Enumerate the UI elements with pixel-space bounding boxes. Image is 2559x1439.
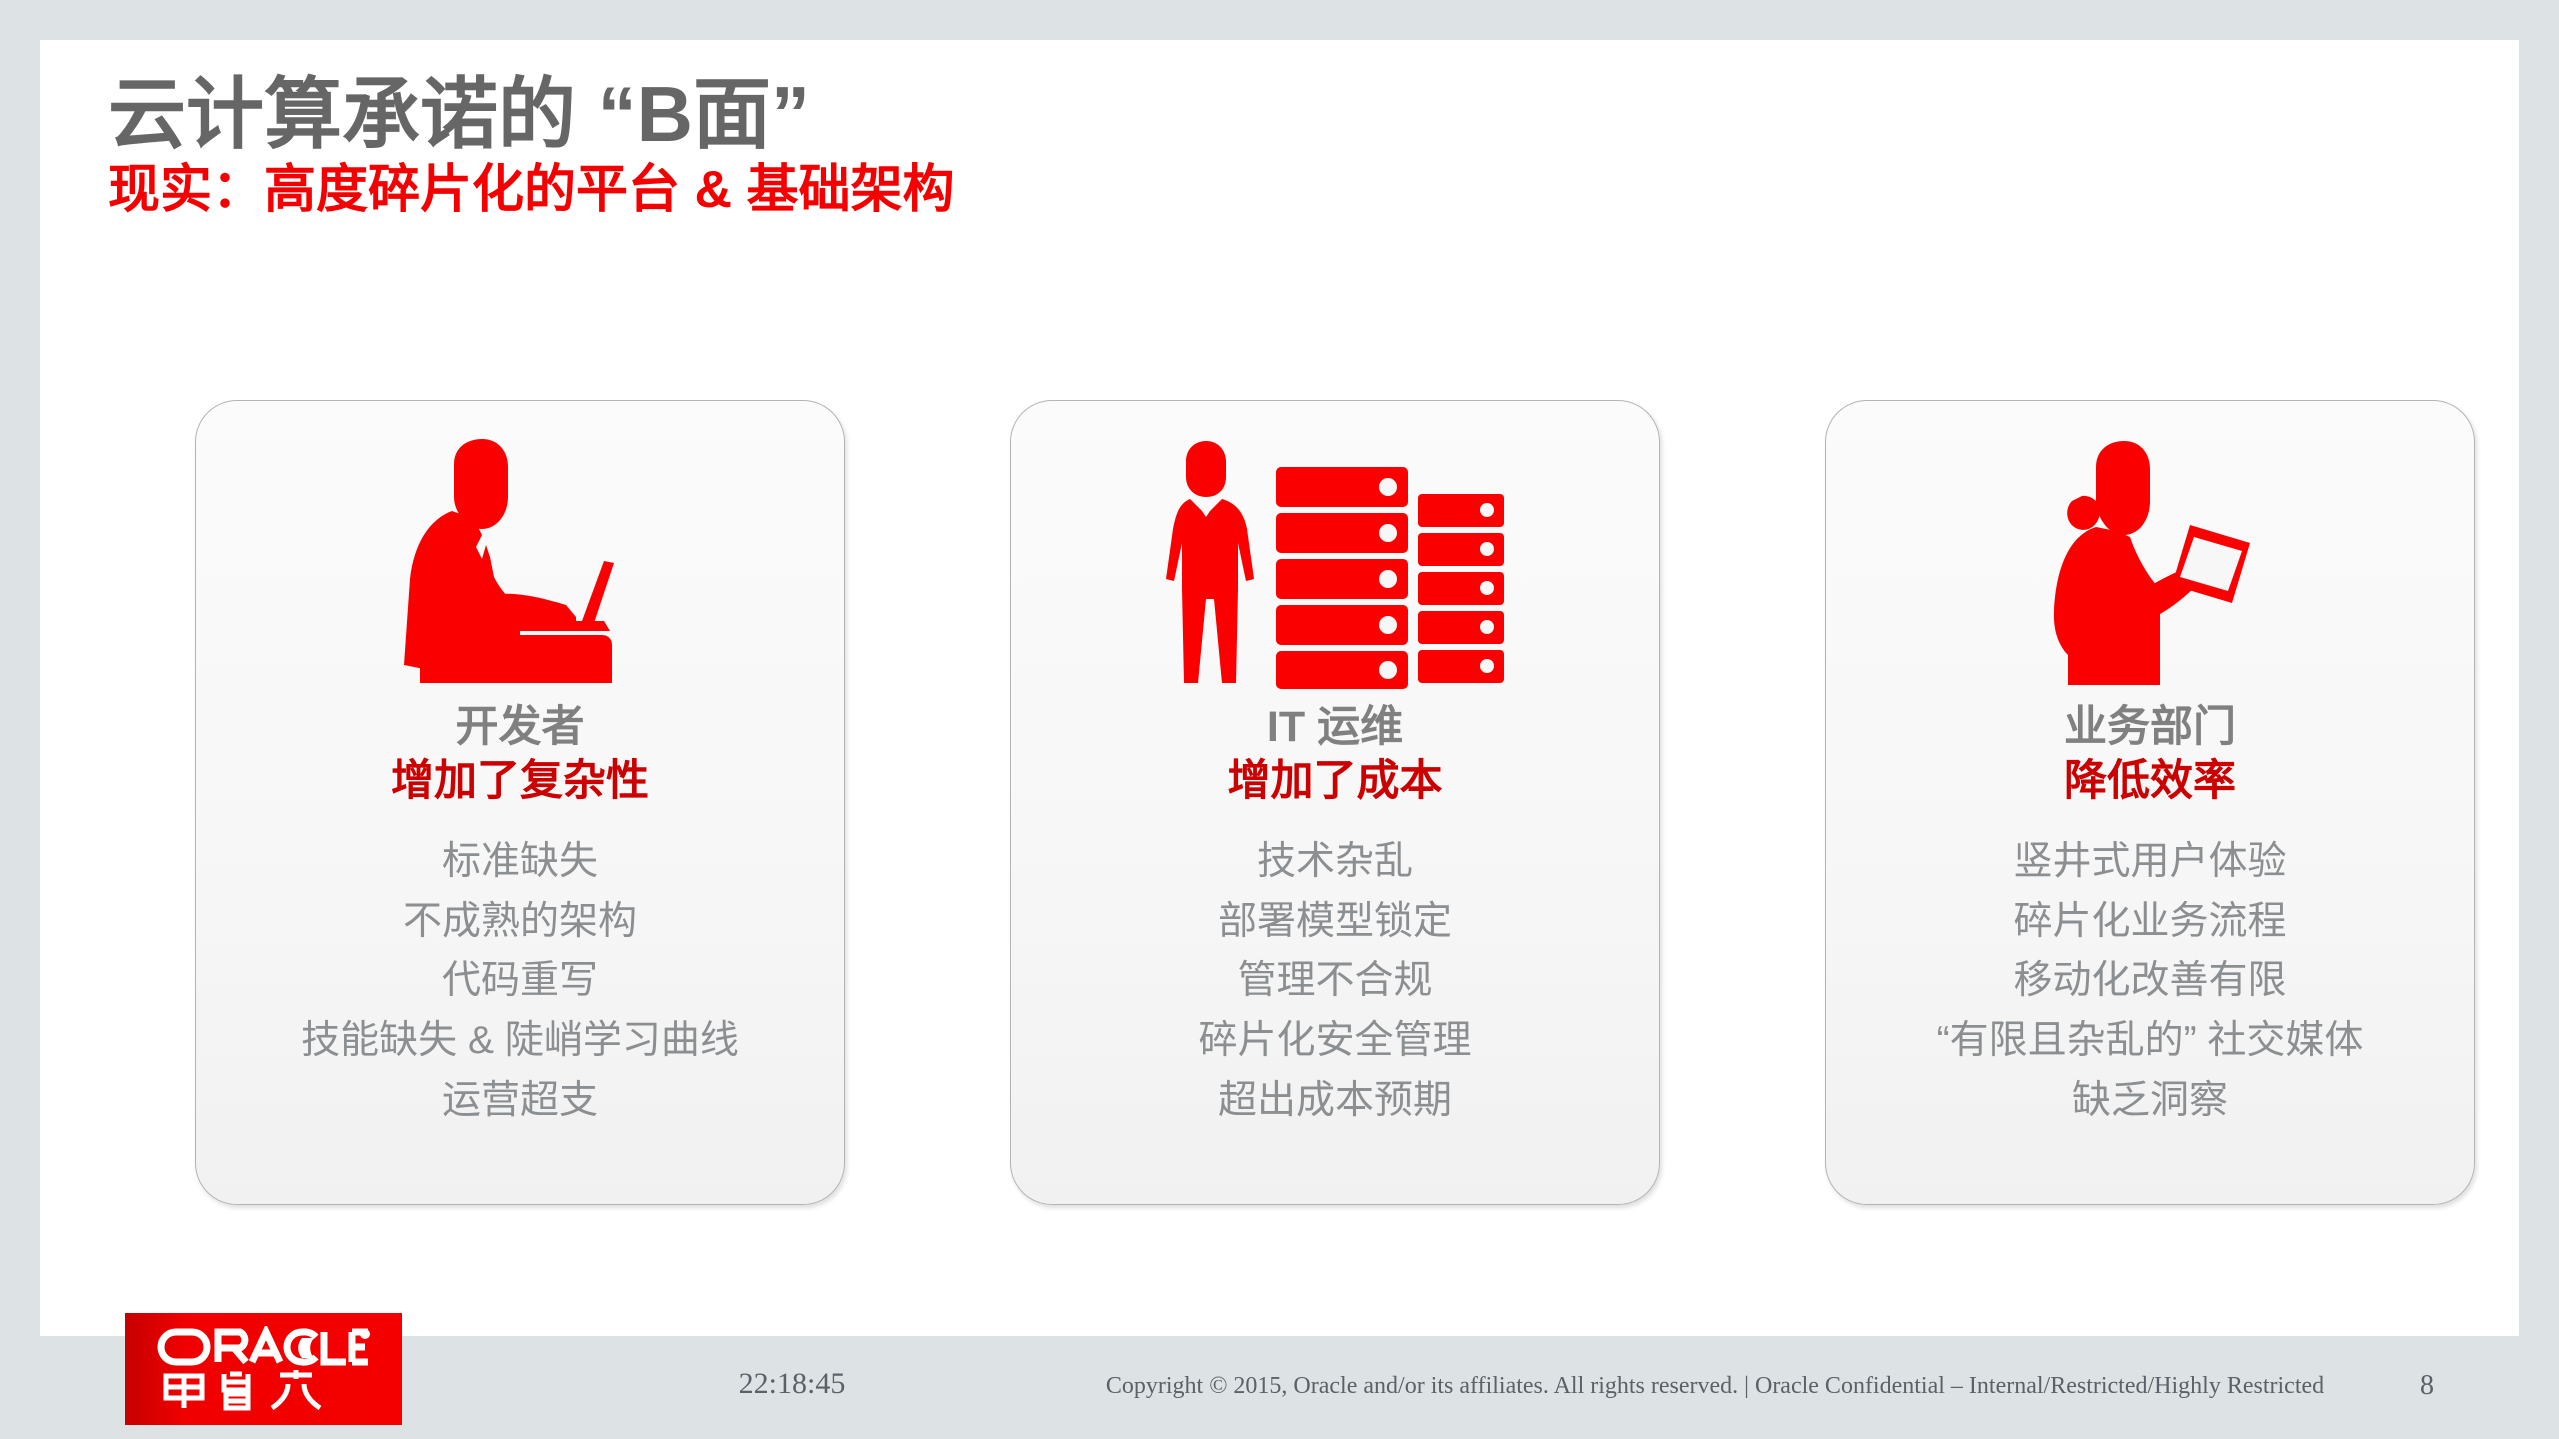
- list-item: 技术杂乱: [1021, 832, 1649, 892]
- list-item: 标准缺失: [206, 832, 834, 892]
- list-item: 技能缺失 & 陡峭学习曲线: [206, 1011, 834, 1071]
- business-user-tablet-icon: [1826, 419, 2474, 709]
- card-developer-heading: 开发者: [206, 701, 834, 753]
- card-developer-list: 标准缺失 不成熟的架构 代码重写 技能缺失 & 陡峭学习曲线 运营超支: [206, 832, 834, 1130]
- list-item: 碎片化安全管理: [1021, 1011, 1649, 1071]
- card-business-heading: 业务部门: [1836, 701, 2464, 753]
- card-it-operations[interactable]: IT 运维 增加了成本 技术杂乱 部署模型锁定 管理不合规 碎片化安全管理 超出…: [1010, 400, 1660, 1205]
- slide-frame: 云计算承诺的 “B面” 现实：高度碎片化的平台 & 基础架构: [0, 0, 2559, 1439]
- card-it-operations-subheading: 增加了成本: [1021, 755, 1649, 807]
- list-item: 部署模型锁定: [1021, 892, 1649, 952]
- card-business-subheading: 降低效率: [1836, 755, 2464, 807]
- list-item: 缺乏洞察: [1836, 1071, 2464, 1131]
- list-item: 移动化改善有限: [1836, 951, 2464, 1011]
- card-it-operations-list: 技术杂乱 部署模型锁定 管理不合规 碎片化安全管理 超出成本预期: [1021, 832, 1649, 1130]
- list-item: 超出成本预期: [1021, 1071, 1649, 1131]
- card-developer[interactable]: 开发者 增加了复杂性 标准缺失 不成熟的架构 代码重写 技能缺失 & 陡峭学习曲…: [195, 400, 845, 1205]
- it-operations-server-racks-icon: [1011, 419, 1659, 709]
- oracle-logo: [125, 1313, 402, 1425]
- card-business-text: 业务部门 降低效率 竖井式用户体验 碎片化业务流程 移动化改善有限 “有限且杂乱…: [1836, 701, 2464, 1130]
- card-developer-text: 开发者 增加了复杂性 标准缺失 不成熟的架构 代码重写 技能缺失 & 陡峭学习曲…: [206, 701, 834, 1130]
- footer-time: 22:18:45: [642, 1367, 942, 1401]
- card-it-operations-text: IT 运维 增加了成本 技术杂乱 部署模型锁定 管理不合规 碎片化安全管理 超出…: [1021, 701, 1649, 1130]
- slide-canvas: 云计算承诺的 “B面” 现实：高度碎片化的平台 & 基础架构: [40, 40, 2519, 1336]
- card-business-list: 竖井式用户体验 碎片化业务流程 移动化改善有限 “有限且杂乱的” 社交媒体 缺乏…: [1836, 832, 2464, 1130]
- slide-heading-block: 云计算承诺的 “B面” 现实：高度碎片化的平台 & 基础架构: [108, 75, 2408, 217]
- card-business[interactable]: 业务部门 降低效率 竖井式用户体验 碎片化业务流程 移动化改善有限 “有限且杂乱…: [1825, 400, 2475, 1205]
- card-developer-subheading: 增加了复杂性: [206, 755, 834, 807]
- list-item: 代码重写: [206, 951, 834, 1011]
- list-item: 管理不合规: [1021, 951, 1649, 1011]
- developer-at-laptop-icon: [196, 419, 844, 709]
- list-item: 竖井式用户体验: [1836, 832, 2464, 892]
- page-subtitle: 现实：高度碎片化的平台 & 基础架构: [108, 163, 2408, 218]
- list-item: 不成熟的架构: [206, 892, 834, 952]
- card-it-operations-heading: IT 运维: [1021, 701, 1649, 753]
- list-item: “有限且杂乱的” 社交媒体: [1836, 1011, 2464, 1071]
- footer-copyright: Copyright © 2015, Oracle and/or its affi…: [1060, 1373, 2370, 1400]
- page-title: 云计算承诺的 “B面”: [108, 75, 2408, 155]
- list-item: 碎片化业务流程: [1836, 892, 2464, 952]
- footer-page-number: 8: [2420, 1370, 2480, 1402]
- cards-container: 开发者 增加了复杂性 标准缺失 不成熟的架构 代码重写 技能缺失 & 陡峭学习曲…: [155, 400, 2445, 1230]
- list-item: 运营超支: [206, 1071, 834, 1131]
